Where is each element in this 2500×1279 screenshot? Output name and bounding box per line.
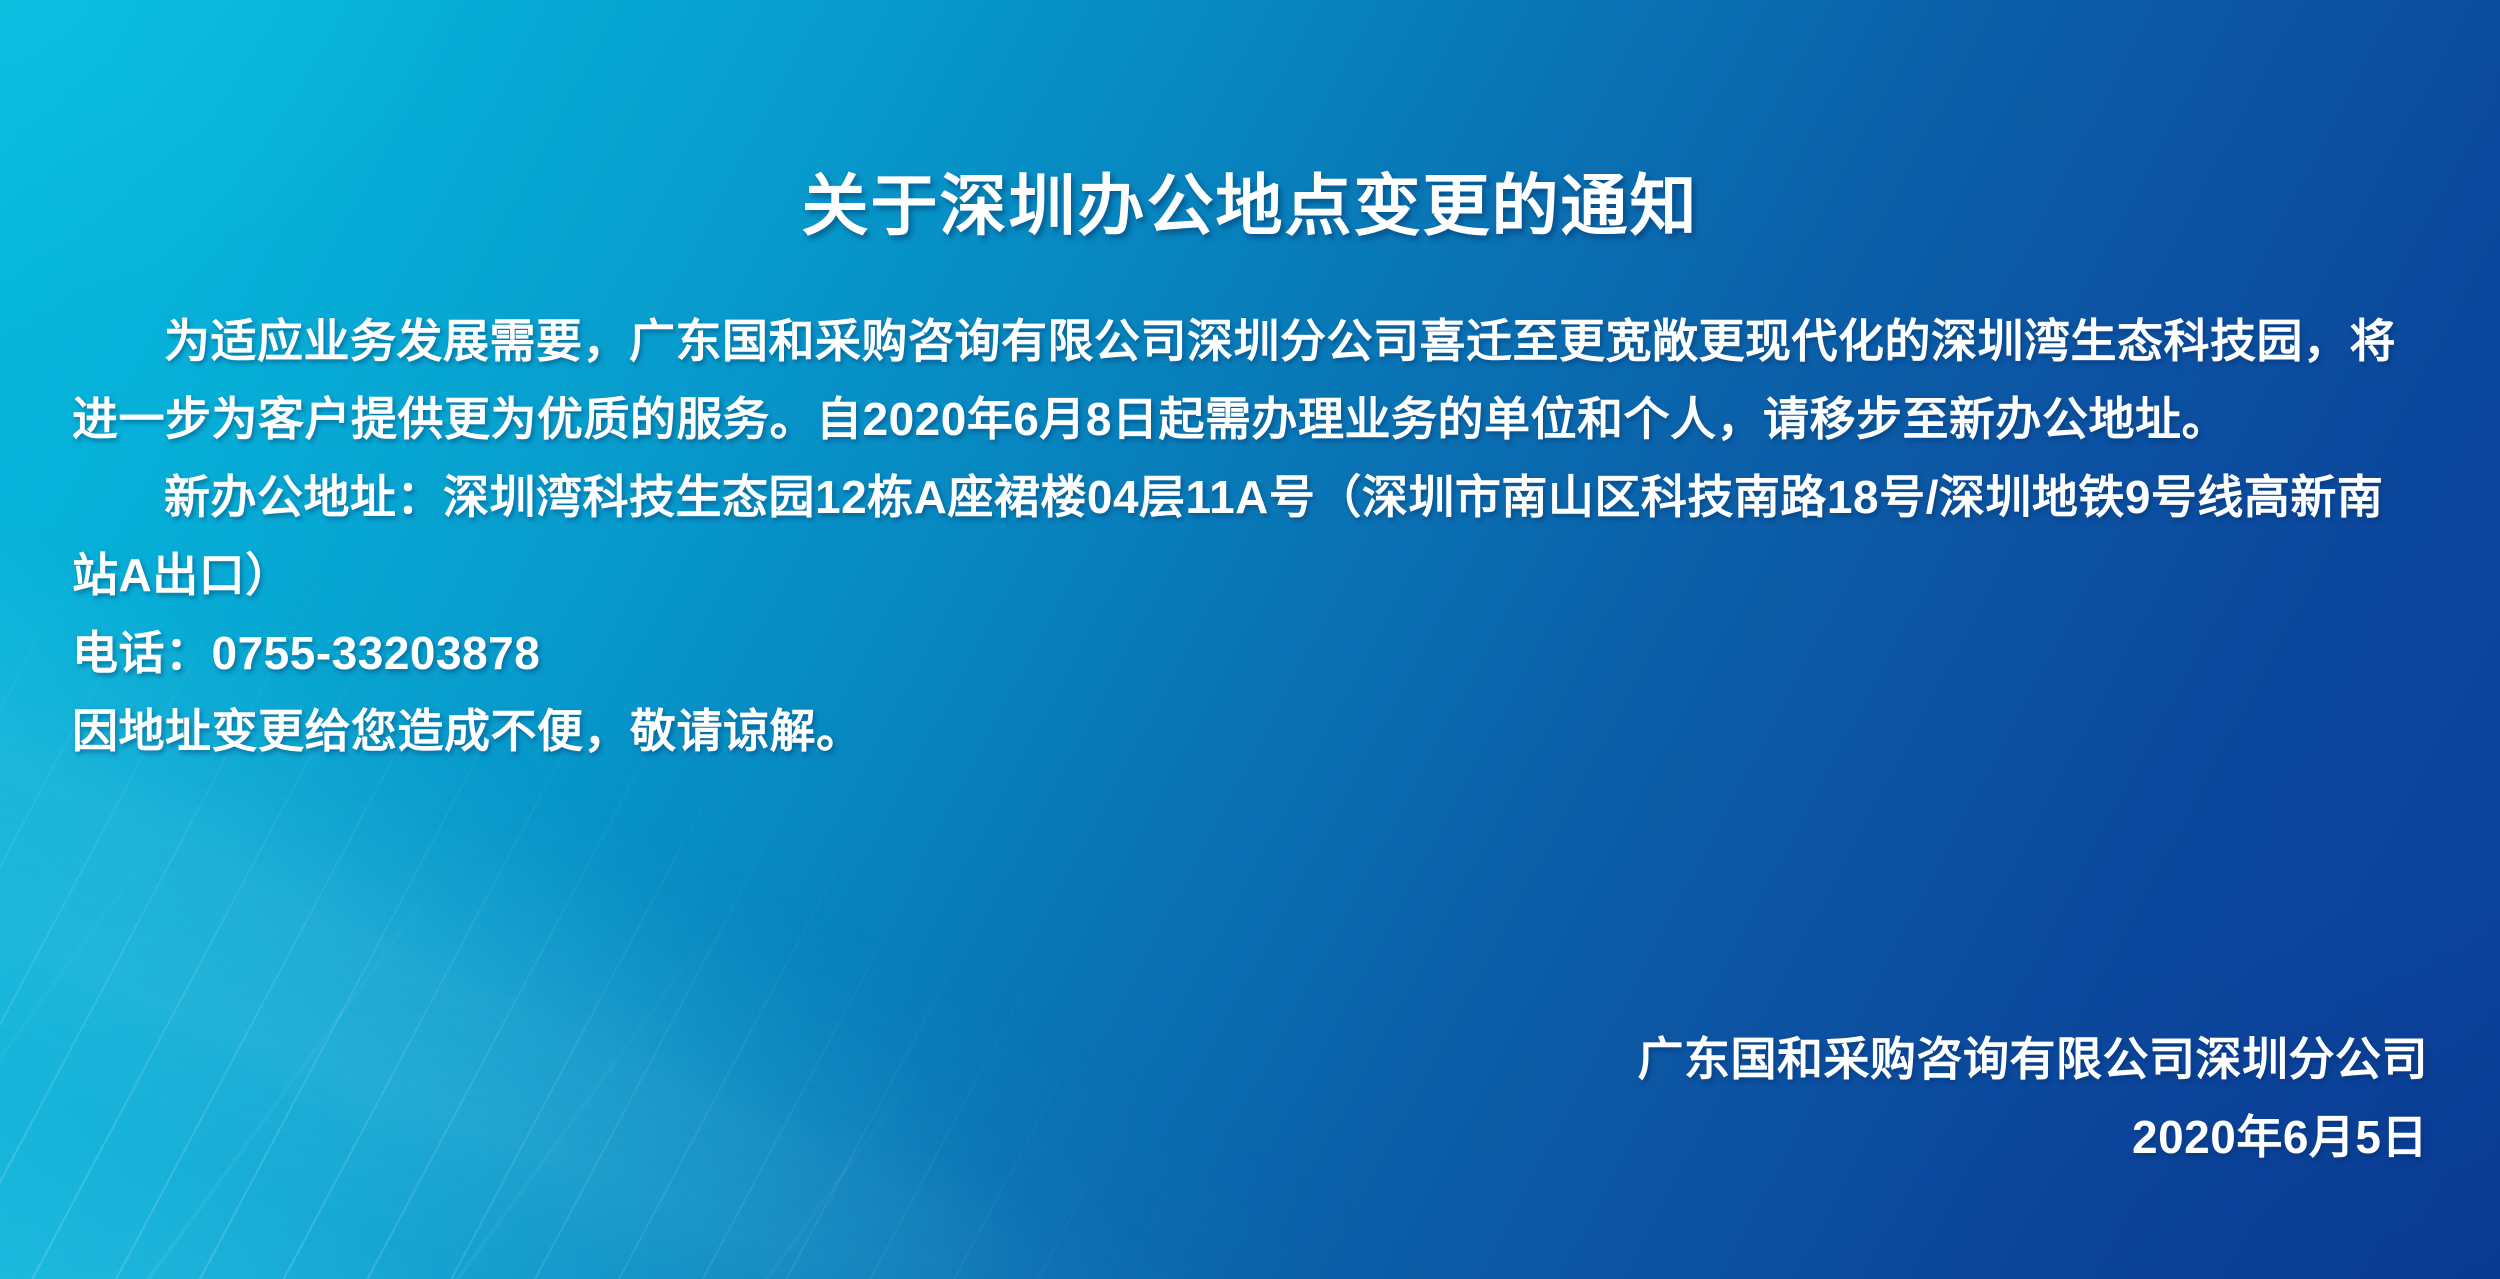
signature-organization: 广东国和采购咨询有限公司深圳分公司 bbox=[1638, 1020, 2429, 1098]
notice-body: 为适应业务发展需要，广东国和采购咨询有限公司深圳分公司喜迁至更宽敞更现代化的深圳… bbox=[72, 302, 2428, 770]
signature-block: 广东国和采购咨询有限公司深圳分公司 2020年6月5日 bbox=[1638, 1020, 2429, 1176]
paragraph-intro: 为适应业务发展需要，广东国和采购咨询有限公司深圳分公司喜迁至更宽敞更现代化的深圳… bbox=[72, 302, 2428, 458]
page-title: 关于深圳办公地点变更的通知 bbox=[72, 45, 2428, 240]
paragraph-phone: 电话：0755-33203878 bbox=[72, 614, 2428, 692]
signature-date: 2020年6月5日 bbox=[1638, 1098, 2429, 1176]
paragraph-address: 新办公地址：深圳湾科技生态园12栋A座裙楼04层11A号（深圳市南山区科技南路1… bbox=[72, 458, 2428, 614]
notice-poster: 关于深圳办公地点变更的通知 为适应业务发展需要，广东国和采购咨询有限公司深圳分公… bbox=[0, 0, 2500, 1279]
paragraph-apology: 因地址变更给您造成不便，敬请谅解。 bbox=[72, 692, 2428, 770]
notice-content: 关于深圳办公地点变更的通知 为适应业务发展需要，广东国和采购咨询有限公司深圳分公… bbox=[0, 45, 2500, 1279]
